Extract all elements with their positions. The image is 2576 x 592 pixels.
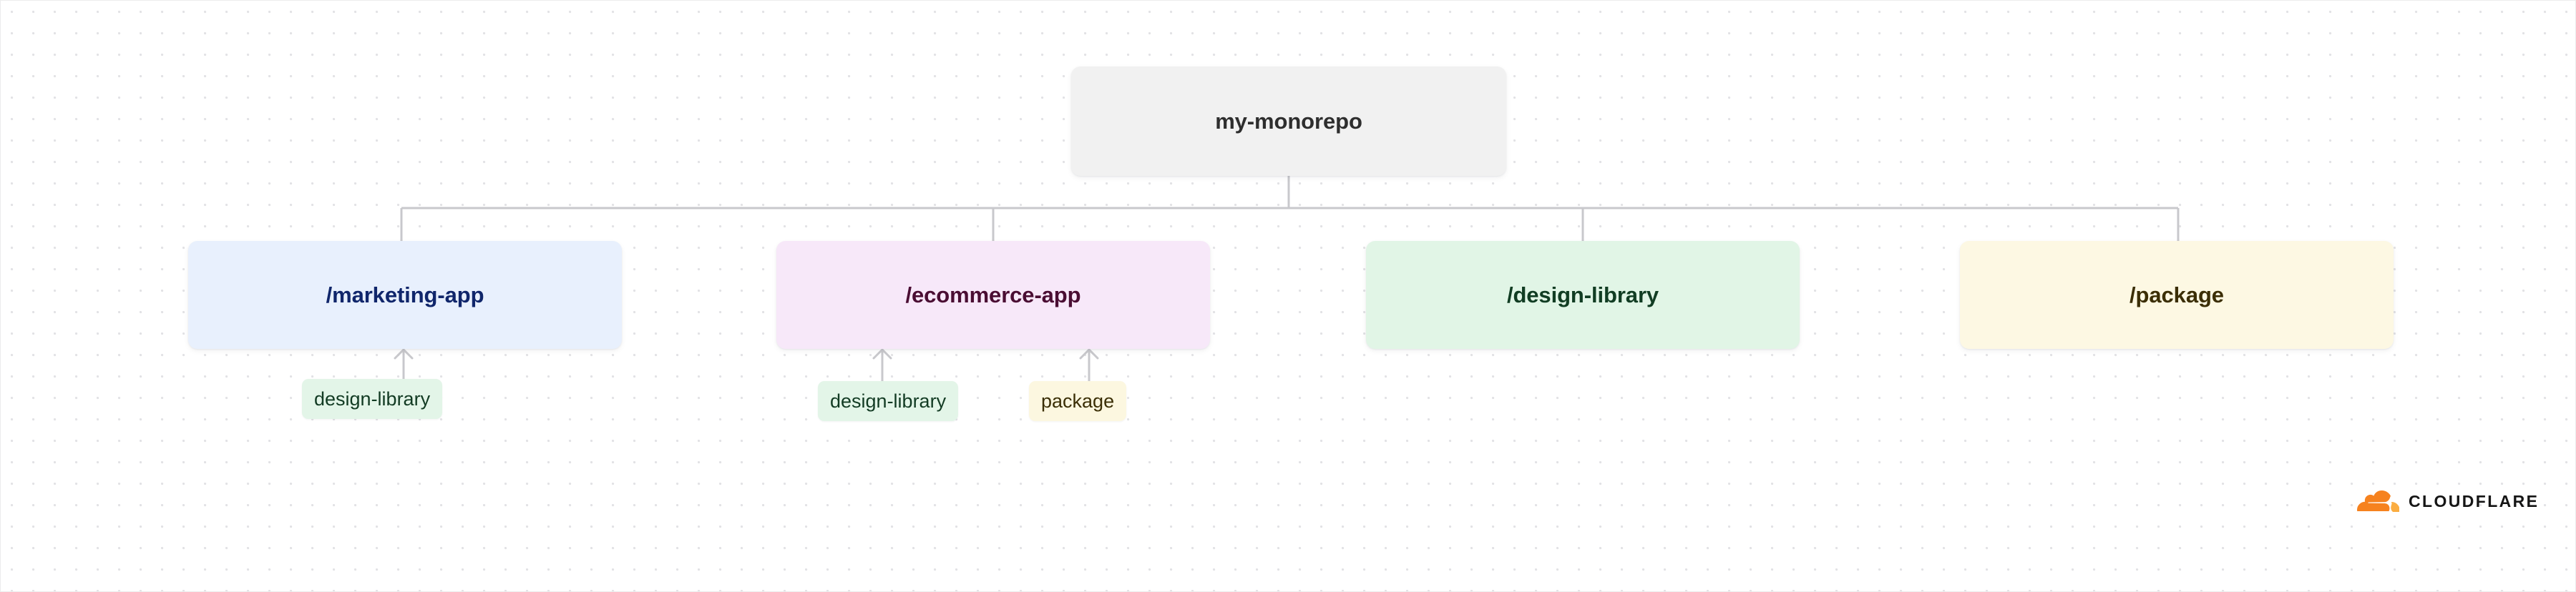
dependency-chip-package-ecommerce[interactable]: package — [1029, 381, 1126, 421]
dependency-chip-label: package — [1041, 390, 1114, 413]
dependency-chip-label: design-library — [830, 390, 946, 413]
diagram-canvas: my-monorepo /marketing-app /ecommerce-ap… — [0, 0, 2576, 592]
node-label: /package — [2129, 282, 2224, 308]
cloudflare-cloud-icon — [2355, 490, 2399, 512]
dep-arrowhead-marketing-design-library — [395, 350, 412, 358]
dependency-chip-design-library-ecommerce[interactable]: design-library — [818, 381, 958, 421]
node-label: /design-library — [1507, 282, 1659, 308]
cloudflare-wordmark: CLOUDFLARE — [2409, 493, 2539, 510]
node-label: my-monorepo — [1215, 109, 1362, 134]
dep-arrowhead-ecommerce-package — [1080, 350, 1098, 358]
node-label: /ecommerce-app — [906, 282, 1081, 308]
dependency-chip-design-library-marketing[interactable]: design-library — [302, 379, 442, 419]
node-my-monorepo[interactable]: my-monorepo — [1071, 66, 1506, 176]
node-package[interactable]: /package — [1960, 241, 2394, 349]
cloudflare-logo: CLOUDFLARE — [2355, 490, 2539, 512]
dep-arrowhead-ecommerce-design-library — [874, 350, 891, 358]
node-ecommerce-app[interactable]: /ecommerce-app — [776, 241, 1210, 349]
node-design-library[interactable]: /design-library — [1366, 241, 1800, 349]
dependency-chip-label: design-library — [314, 388, 430, 410]
node-marketing-app[interactable]: /marketing-app — [188, 241, 622, 349]
node-label: /marketing-app — [326, 282, 484, 308]
